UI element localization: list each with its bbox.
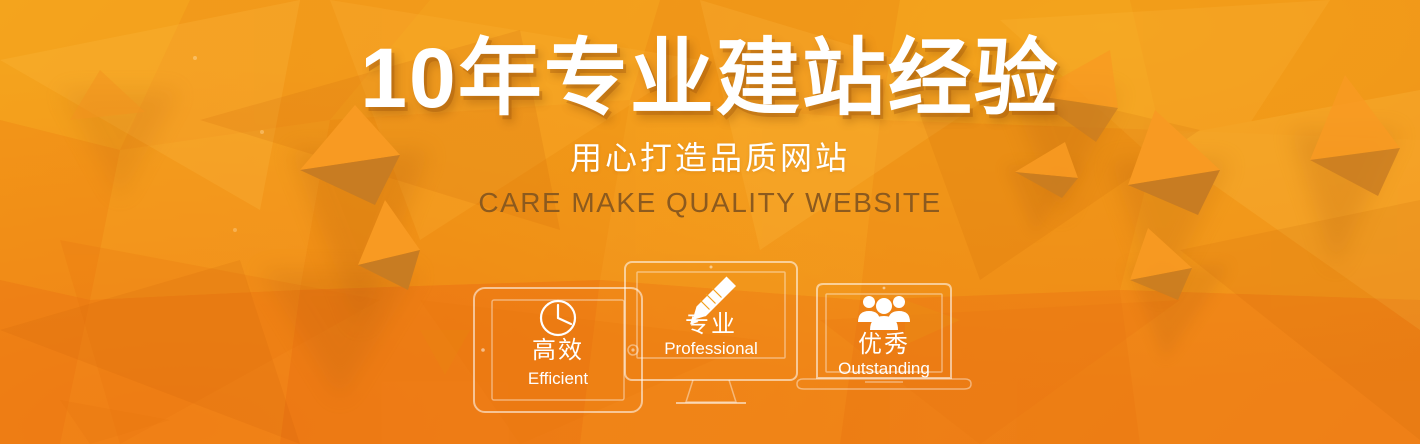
monitor-stand-neck [686,380,736,402]
clock-icon [541,301,575,335]
banner-subtitle-en: CARE MAKE QUALITY WEBSITE [478,189,941,217]
tablet-camera-dot [481,348,485,352]
laptop-base [797,379,971,389]
feature-card-efficient[interactable]: 高效 Efficient [474,288,642,412]
banner-headline: 10年专业建站经验 [360,36,1059,120]
feature-label-cn-efficient: 高效 [532,337,584,364]
people-group-icon [858,296,910,330]
feature-label-en-efficient: Efficient [528,369,588,388]
tablet-home-button-inner [631,348,634,351]
feature-label-en-professional: Professional [664,339,758,358]
feature-devices-row: 高效 Efficient 专业 Professional [0,250,1420,415]
feature-card-professional[interactable]: 专业 Professional [625,262,797,403]
promo-banner: 10年专业建站经验 用心打造品质网站 CARE MAKE QUALITY WEB… [0,0,1420,444]
laptop-camera-dot [883,287,886,290]
feature-label-en-outstanding: Outstanding [838,359,930,378]
banner-subtitle-cn: 用心打造品质网站 [570,142,850,174]
feature-label-cn-professional: 专业 [685,311,737,338]
monitor-camera-dot [710,266,713,269]
feature-label-cn-outstanding: 优秀 [858,331,910,358]
feature-card-outstanding[interactable]: 优秀 Outstanding [797,284,971,389]
